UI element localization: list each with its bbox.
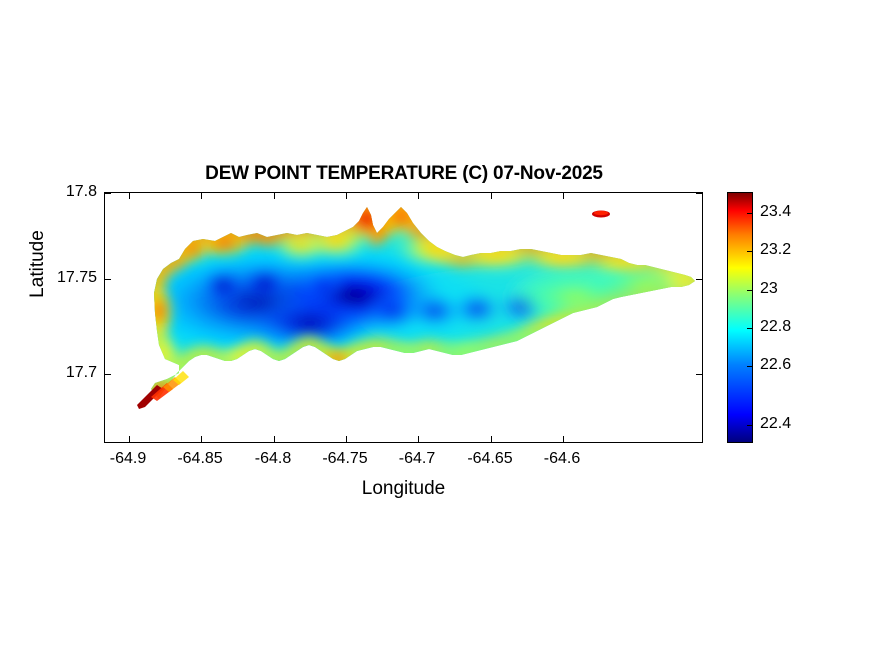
- colorbar-tick: [747, 366, 752, 367]
- x-tick-label: -64.8: [255, 450, 291, 468]
- page-title: DEW POINT TEMPERATURE (C) 07-Nov-2025: [104, 163, 704, 185]
- colorbar-tick: [747, 425, 752, 426]
- y-tick-mark: [105, 279, 111, 280]
- x-tick-mark: [346, 193, 347, 199]
- colorbar-tick: [747, 213, 752, 214]
- x-tick-mark: [129, 436, 130, 442]
- x-tick-label: -64.85: [177, 450, 222, 468]
- y-tick-mark: [105, 193, 111, 194]
- y-tick-mark: [105, 374, 111, 375]
- x-tick-mark: [274, 193, 275, 199]
- plot-area: [104, 192, 703, 443]
- x-tick-mark: [201, 436, 202, 442]
- colorbar-tick-label: 22.6: [760, 356, 791, 374]
- x-tick-mark: [418, 193, 419, 199]
- x-tick-mark: [491, 193, 492, 199]
- colorbar-tick-label: 23.4: [760, 203, 791, 221]
- y-tick-label: 17.8: [42, 183, 97, 201]
- buck-island-marker: [592, 211, 610, 218]
- interpolated-field: [105, 193, 704, 444]
- colorbar-tick-label: 23.2: [760, 241, 791, 259]
- x-tick-label: -64.7: [399, 450, 435, 468]
- x-tick-mark: [563, 436, 564, 442]
- colorbar-tick-label: 22.8: [760, 318, 791, 336]
- sandy-point-spit: [137, 371, 189, 409]
- x-tick-label: -64.65: [467, 450, 512, 468]
- y-tick-mark: [696, 193, 702, 194]
- colorbar-tick-label: 23: [760, 280, 778, 298]
- y-tick-mark: [696, 279, 702, 280]
- x-tick-label: -64.75: [322, 450, 367, 468]
- colorbar-tick-label: 22.4: [760, 415, 791, 433]
- dew-point-heatmap: [105, 193, 704, 444]
- y-tick-label: 17.7: [42, 364, 97, 382]
- x-tick-mark: [274, 436, 275, 442]
- x-tick-mark: [346, 436, 347, 442]
- colorbar-tick: [747, 290, 752, 291]
- x-tick-label: -64.6: [544, 450, 580, 468]
- x-tick-mark: [418, 436, 419, 442]
- x-tick-label: -64.9: [110, 450, 146, 468]
- y-axis-label: Latitude: [27, 199, 49, 329]
- y-tick-mark: [696, 374, 702, 375]
- x-tick-mark: [491, 436, 492, 442]
- colorbar: [727, 192, 753, 443]
- x-tick-mark: [129, 193, 130, 199]
- colorbar-tick: [747, 251, 752, 252]
- y-tick-label: 17.75: [34, 269, 97, 287]
- x-tick-mark: [563, 193, 564, 199]
- x-axis-label: Longitude: [104, 478, 703, 500]
- colorbar-tick: [747, 328, 752, 329]
- figure-canvas: DEW POINT TEMPERATURE (C) 07-Nov-2025 La…: [0, 0, 875, 656]
- x-tick-mark: [201, 193, 202, 199]
